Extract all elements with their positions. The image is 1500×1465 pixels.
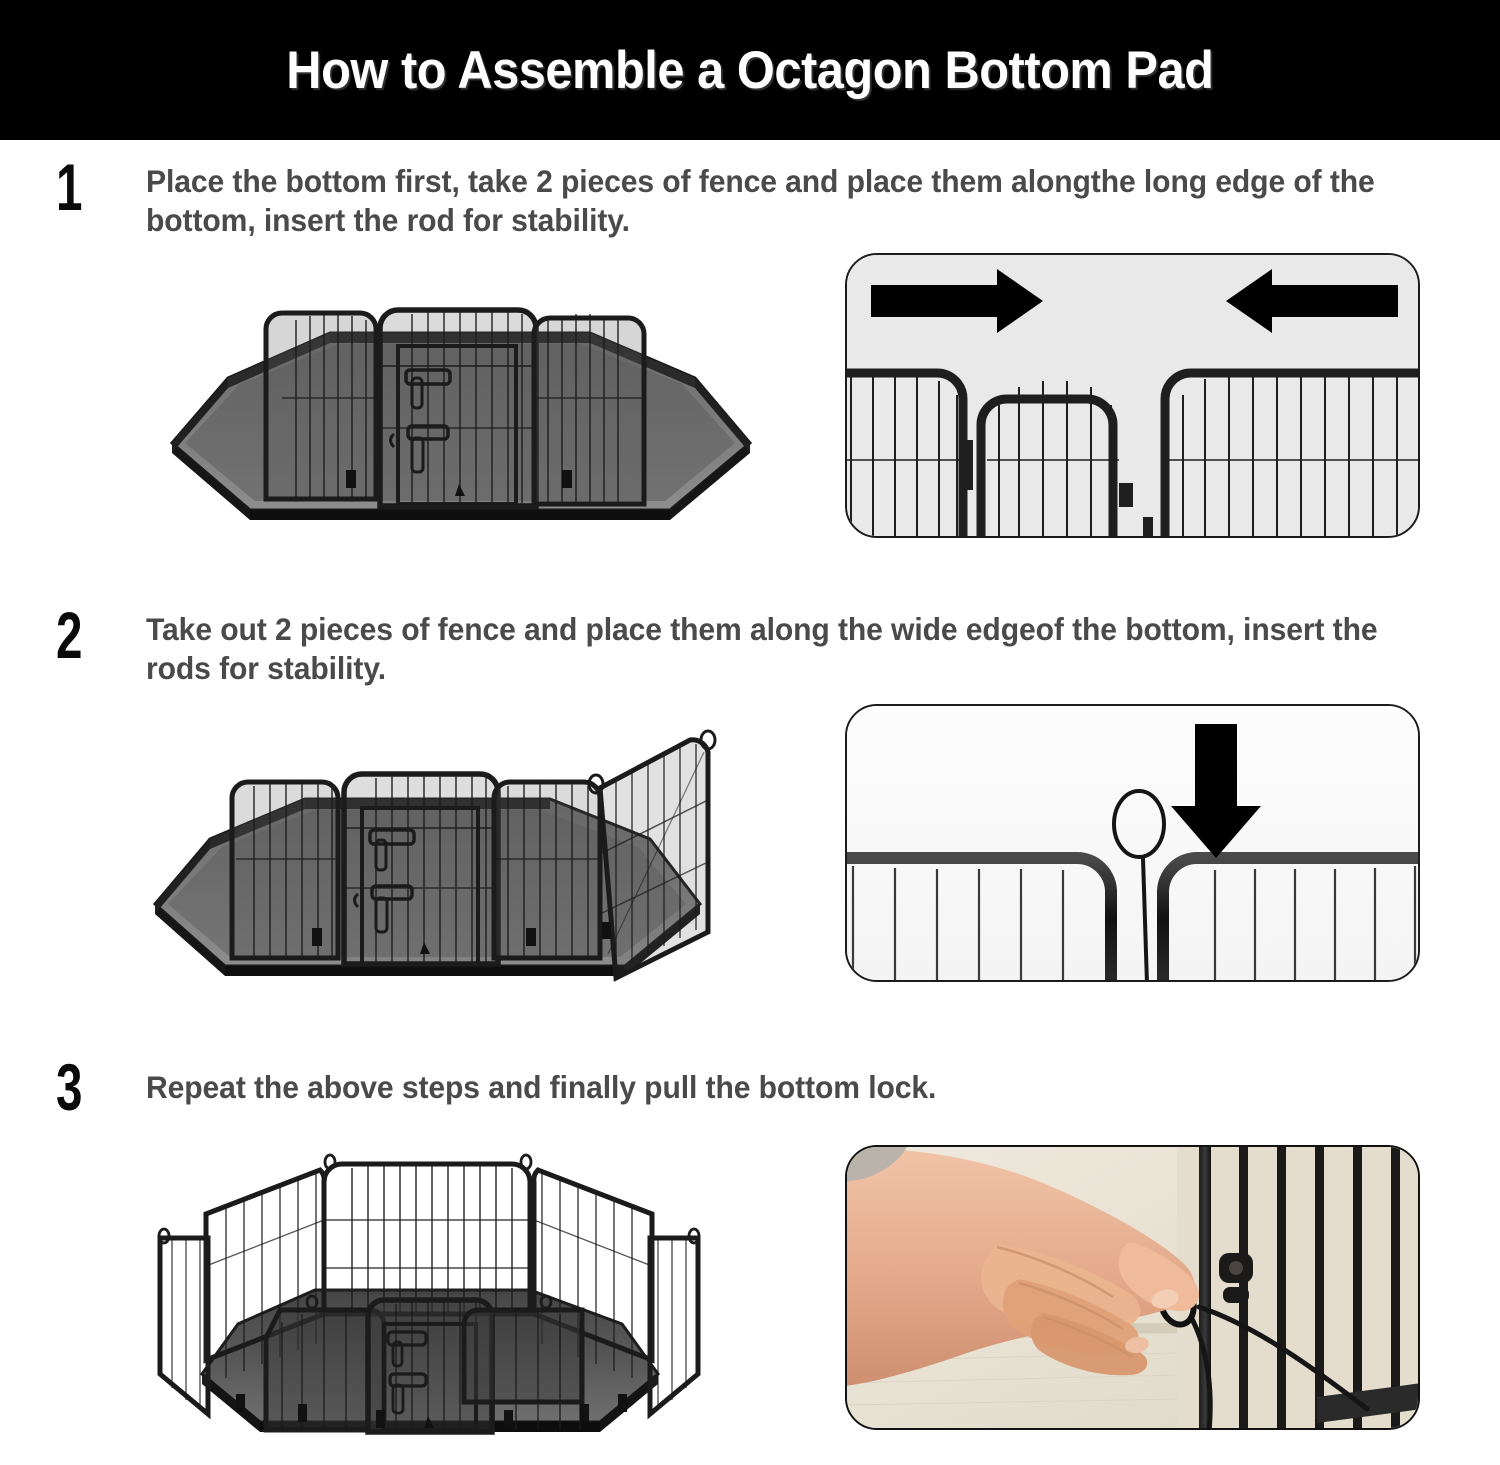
step-2-number: 2 <box>56 604 82 667</box>
step-3-figures <box>0 1130 1500 1440</box>
step-1-header: 1 Place the bottom first, take 2 pieces … <box>0 140 1500 248</box>
step-1: 1 Place the bottom first, take 2 pieces … <box>0 140 1500 548</box>
fence-panels-sliding-together-detail <box>845 253 1420 538</box>
step-1-instruction: Place the bottom first, take 2 pieces of… <box>146 162 1378 239</box>
step-2-header: 2 Take out 2 pieces of fence and place t… <box>0 588 1500 696</box>
rod-insertion-detail-photo <box>845 704 1420 982</box>
step-1-figures <box>0 248 1500 548</box>
step-3-number: 3 <box>56 1056 82 1119</box>
step-2-instruction: Take out 2 pieces of fence and place the… <box>146 610 1378 687</box>
step-2: 2 Take out 2 pieces of fence and place t… <box>0 588 1500 996</box>
step-1-number: 1 <box>56 156 82 219</box>
step-3: 3 Repeat the above steps and finally pul… <box>0 1040 1500 1440</box>
step-2-figures <box>0 696 1500 996</box>
octagon-pad-with-four-fence-panels <box>130 704 750 994</box>
header-bar: How to Assemble a Octagon Bottom Pad <box>0 0 1500 140</box>
completed-octagon-playpen <box>130 1142 730 1442</box>
hand-pulling-bottom-lock-photo <box>845 1145 1420 1430</box>
page-title: How to Assemble a Octagon Bottom Pad <box>286 40 1213 101</box>
step-3-header: 3 Repeat the above steps and finally pul… <box>0 1040 1500 1130</box>
step-3-instruction: Repeat the above steps and finally pull … <box>146 1068 1378 1107</box>
octagon-bottom-pad-with-two-fence-panels <box>150 258 770 548</box>
